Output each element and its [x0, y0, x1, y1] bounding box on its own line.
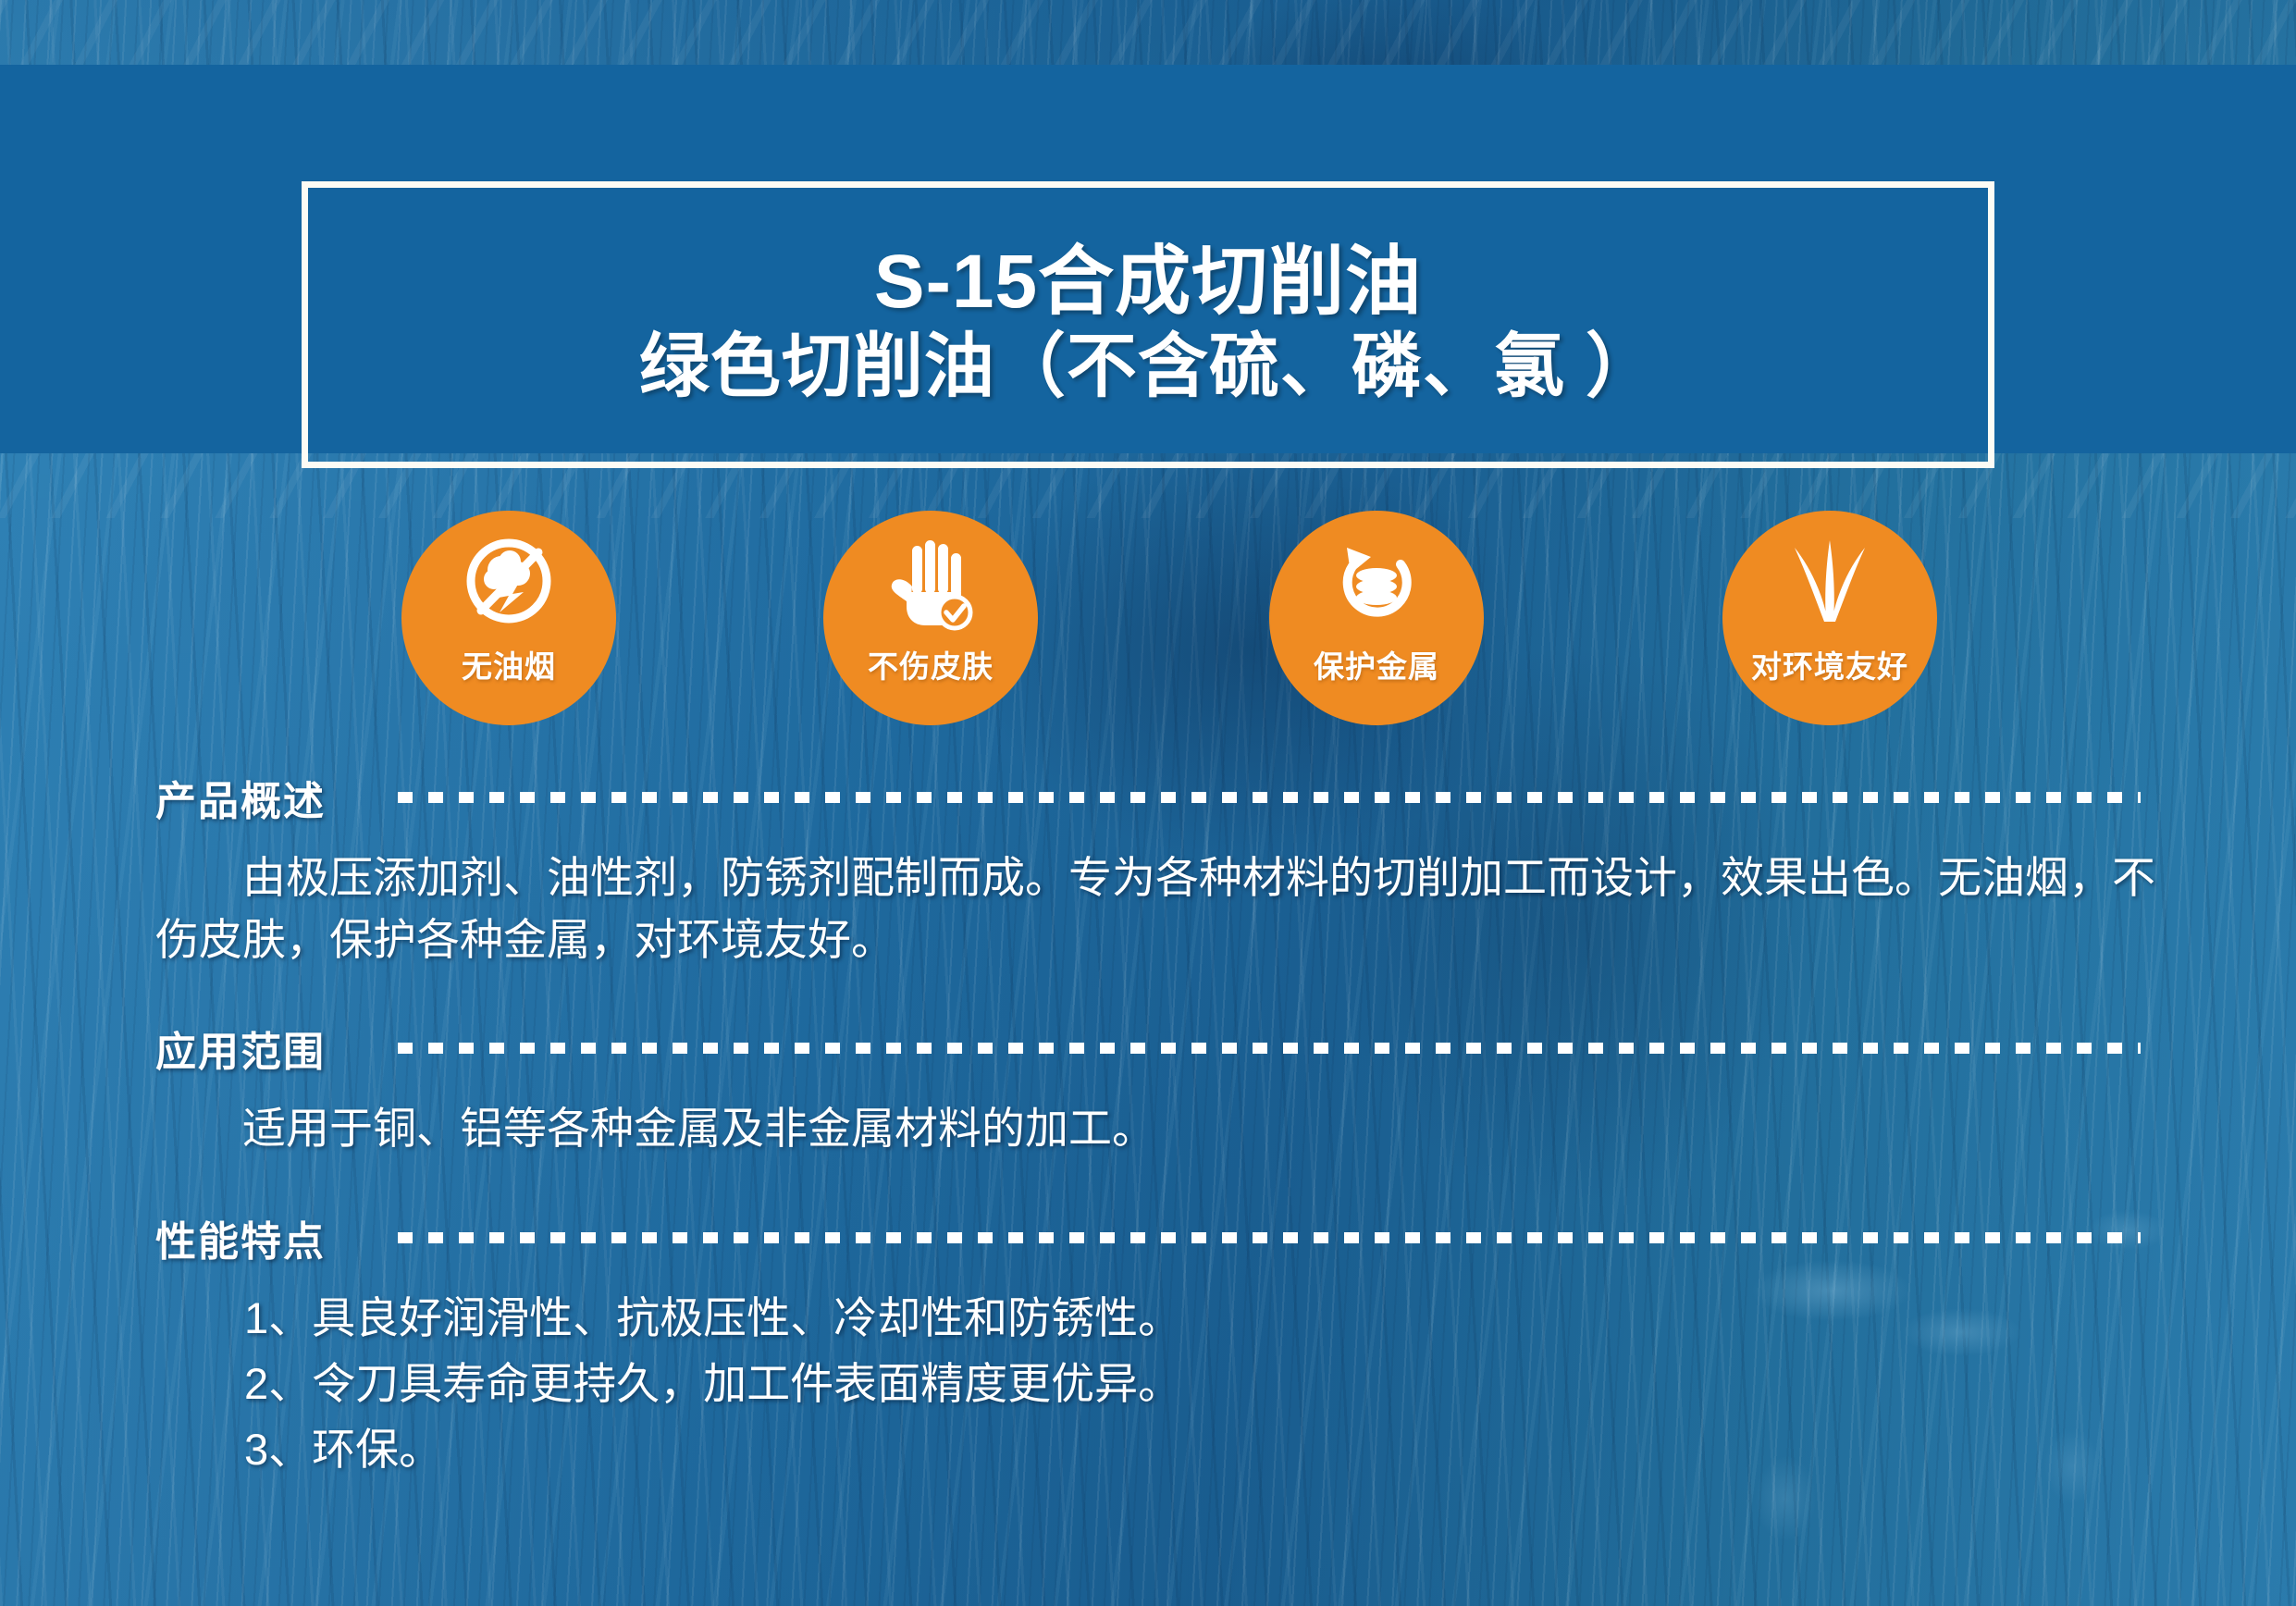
hand-check-icon — [879, 533, 982, 636]
section-body: 1、具良好润滑性、抗极压性、冷却性和防锈性。 2、令刀具寿命更持久，加工件表面精… — [0, 1288, 2296, 1480]
feature-badges-row: 无油烟 不伤皮肤 — [0, 511, 2296, 733]
overview-text: 由极压添加剂、油性剂，防锈剂配制而成。专为各种材料的切削加工而设计，效果出色。无… — [155, 847, 2194, 970]
section-title: 性能特点 — [155, 1208, 326, 1267]
page-title: S-15合成切削油 — [874, 242, 1422, 322]
header-banner: S-15合成切削油 绿色切削油（不含硫、磷、氯 ） — [0, 65, 2296, 453]
section-title: 应用范围 — [155, 1019, 326, 1078]
badge-label: 不伤皮肤 — [868, 642, 994, 686]
dashed-divider — [398, 1043, 2141, 1054]
badge-label: 保护金属 — [1314, 642, 1439, 686]
section-body: 由极压添加剂、油性剂，防锈剂配制而成。专为各种材料的切削加工而设计，效果出色。无… — [0, 847, 2296, 970]
section-header: 应用范围 — [0, 1019, 2296, 1078]
section-performance-features: 性能特点 1、具良好润滑性、抗极压性、冷却性和防锈性。 2、令刀具寿命更持久，加… — [0, 1208, 2296, 1480]
section-application-scope: 应用范围 适用于铜、铝等各种金属及非金属材料的加工。 — [0, 1019, 2296, 1160]
badge-label: 对环境友好 — [1751, 642, 1908, 686]
grass-plant-icon — [1778, 533, 1882, 636]
section-body: 适用于铜、铝等各种金属及非金属材料的加工。 — [0, 1098, 2296, 1160]
dashed-divider — [398, 792, 2141, 803]
no-smoke-icon — [457, 533, 561, 636]
content-area: 产品概述 由极压添加剂、油性剂，防锈剂配制而成。专为各种材料的切削加工而设计，效… — [0, 768, 2296, 1484]
metal-protection-icon — [1325, 533, 1428, 636]
section-product-overview: 产品概述 由极压添加剂、油性剂，防锈剂配制而成。专为各种材料的切削加工而设计，效… — [0, 768, 2296, 970]
feature-list-item: 3、环保。 — [155, 1419, 2194, 1481]
section-header: 产品概述 — [0, 768, 2296, 827]
title-frame-box: S-15合成切削油 绿色切削油（不含硫、磷、氯 ） — [302, 181, 1994, 468]
dashed-divider — [398, 1232, 2141, 1243]
section-title: 产品概述 — [155, 768, 326, 827]
section-header: 性能特点 — [0, 1208, 2296, 1267]
badge-skin-safe[interactable]: 不伤皮肤 — [823, 511, 1038, 725]
feature-list-item: 1、具良好润滑性、抗极压性、冷却性和防锈性。 — [155, 1288, 2194, 1350]
badge-no-smoke[interactable]: 无油烟 — [401, 511, 616, 725]
feature-list-item: 2、令刀具寿命更持久，加工件表面精度更优异。 — [155, 1353, 2194, 1415]
scope-text: 适用于铜、铝等各种金属及非金属材料的加工。 — [155, 1098, 2194, 1160]
badge-eco-friendly[interactable]: 对环境友好 — [1722, 511, 1937, 725]
page-subtitle: 绿色切削油（不含硫、磷、氯 ） — [639, 327, 1657, 406]
badge-metal-protection[interactable]: 保护金属 — [1269, 511, 1484, 725]
badge-label: 无油烟 — [462, 642, 556, 686]
